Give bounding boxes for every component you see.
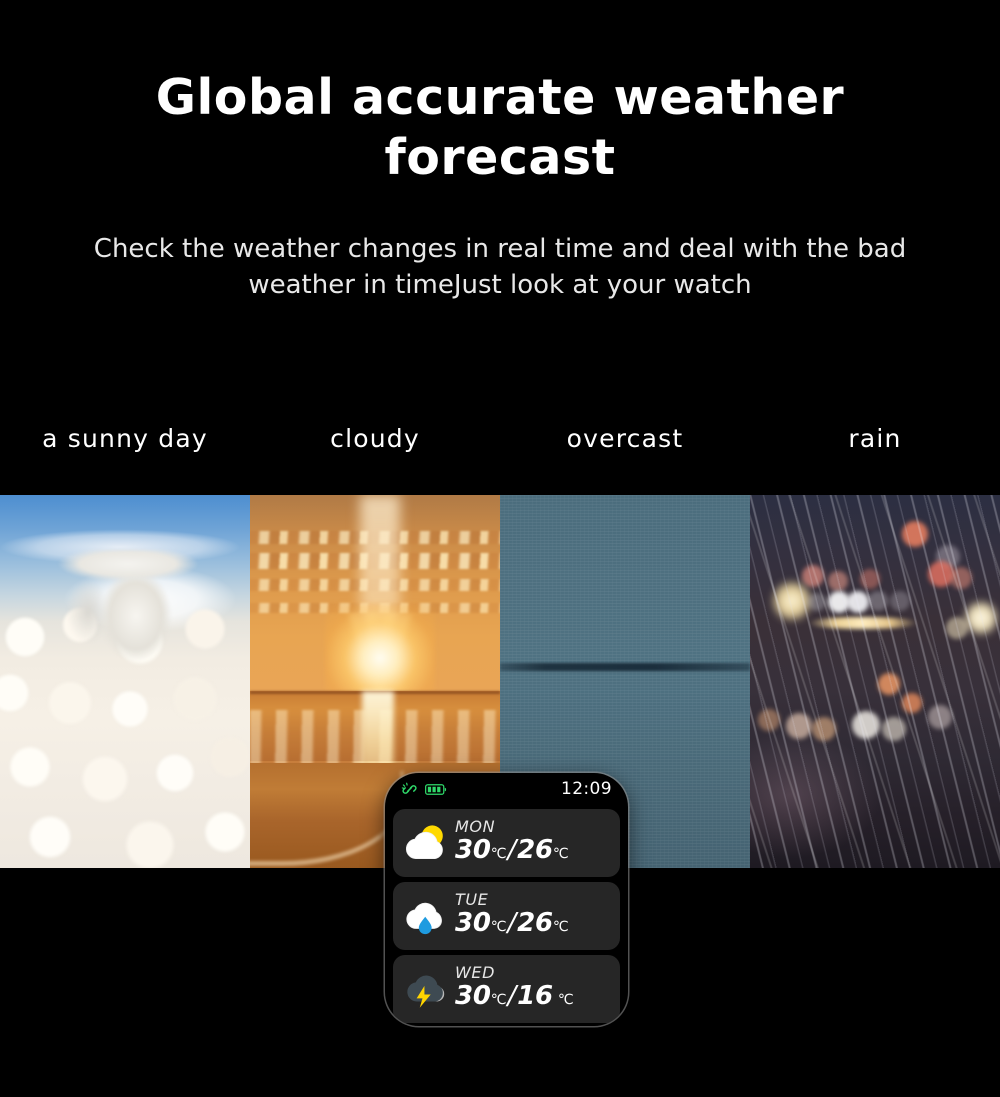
forecast-row-wed[interactable]: WED 30℃/16℃ [393,955,620,1023]
temp-high-mon: 30 [455,836,491,864]
sun-behind-cloud-icon [401,818,451,868]
temp-unit-low-mon: ℃ [553,840,569,868]
photo-panel-rain [750,495,1000,868]
temp-unit-high-wed: ℃ [491,986,507,1014]
cloud-with-raindrop-icon [401,891,451,941]
temp-low-wed: 16 [517,982,553,1010]
temp-separator-mon: / [507,836,518,864]
temp-unit-low-tue: ℃ [553,913,569,941]
watch-status-bar: 12:09 [385,773,628,805]
page-subtitle: Check the weather changes in real time a… [0,231,1000,303]
forecast-text-wed: WED 30℃/16℃ [455,964,574,1014]
forecast-temp-tue: 30℃/26℃ [455,909,569,941]
weather-label-rain: rain [750,418,1000,458]
weather-label-sunny: a sunny day [0,418,250,458]
anvil-cloud [40,550,215,670]
temp-low-mon: 26 [517,836,553,864]
forecast-temp-mon: 30℃/26℃ [455,836,569,868]
link-disconnected-icon [401,781,418,798]
forecast-row-mon[interactable]: MON 30℃/26℃ [393,809,620,877]
forecast-text-mon: MON 30℃/26℃ [455,818,569,868]
forecast-day-tue: TUE [455,891,569,908]
weather-label-overcast: overcast [500,418,750,458]
temp-unit-high-tue: ℃ [491,913,507,941]
page-title: Global accurate weather forecast [0,68,1000,188]
forecast-row-list: MON 30℃/26℃ TUE 30℃/26℃ [393,809,620,1026]
weather-category-labels: a sunny day cloudy overcast rain [0,418,1000,458]
temp-low-tue: 26 [517,909,553,937]
photo-panel-sunny-day [0,495,250,868]
forecast-day-mon: MON [455,818,569,835]
forecast-day-wed: WED [455,964,574,981]
temp-unit-low-wed: ℃ [558,986,574,1014]
temp-high-wed: 30 [455,982,491,1010]
status-icons [401,781,447,798]
smartwatch-weather-widget[interactable]: 12:09 MON 30℃/26℃ [385,773,628,1026]
temp-separator-tue: / [507,909,518,937]
forecast-row-tue[interactable]: TUE 30℃/26℃ [393,882,620,950]
battery-full-icon [425,783,447,796]
weather-promo-page: Global accurate weather forecast Check t… [0,0,1000,1097]
watch-clock: 12:09 [561,779,612,799]
thunderstorm-cloud-icon [401,964,451,1014]
weather-label-cloudy: cloudy [250,418,500,458]
temp-separator-wed: / [507,982,518,1010]
forecast-text-tue: TUE 30℃/26℃ [455,891,569,941]
forecast-temp-wed: 30℃/16℃ [455,982,574,1014]
distant-shoreline [500,663,750,671]
temp-high-tue: 30 [455,909,491,937]
rain-streaks-secondary [750,495,1000,868]
temp-unit-high-mon: ℃ [491,840,507,868]
